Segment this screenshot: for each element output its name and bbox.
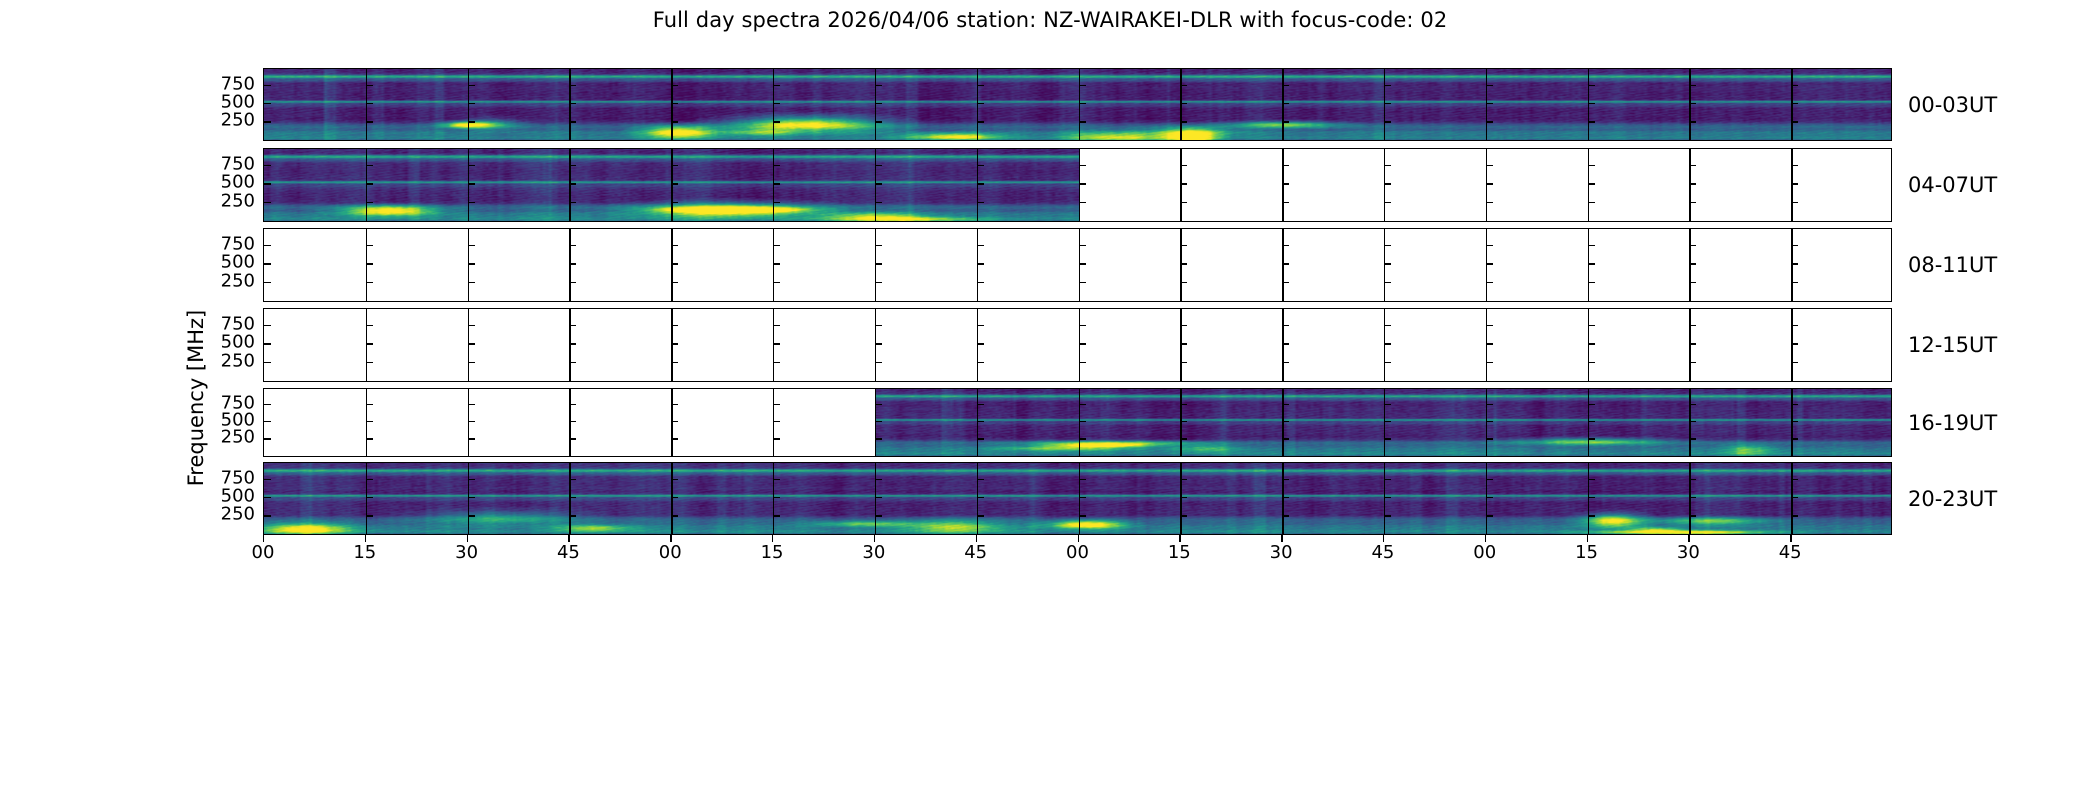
panel-divider [1180,69,1181,140]
y-tick-mark [1282,121,1289,122]
row-caption-12-15ut: 12-15UT [1908,333,1997,357]
y-tick-mark [1791,202,1798,203]
panel-divider [977,69,978,140]
y-tick-mark [1689,343,1696,344]
panel-divider [1588,229,1589,301]
y-tick-mark [468,85,475,86]
row-caption-04-07ut: 04-07UT [1908,173,1997,197]
y-tick-mark [1588,479,1595,480]
panel-divider [1282,463,1283,534]
y-tick-mark [1791,85,1798,86]
y-tick-mark [1486,282,1493,283]
y-tick-mark [1079,245,1086,246]
y-tick-mark [671,362,678,363]
y-tick-mark [1689,183,1696,184]
y-tick-mark [1689,245,1696,246]
y-tick-mark [366,282,373,283]
panel-divider [977,463,978,534]
y-tick-mark [1282,497,1289,498]
y-tick-mark [1282,202,1289,203]
spectrogram-row-04-07ut[interactable] [263,148,1892,222]
y-tick-mark [1079,325,1086,326]
y-tick-mark [1588,362,1595,363]
x-tick-mark [976,535,977,542]
panel-divider [773,149,774,221]
y-tick-mark [1079,362,1086,363]
panel-divider [569,463,570,534]
y-tick-mark [875,245,882,246]
y-tick-mark [468,343,475,344]
y-tick-mark [977,404,984,405]
y-tick-mark [1384,202,1391,203]
y-tick-mark [1588,282,1595,283]
y-tick-mark [1486,202,1493,203]
y-tick-mark [366,325,373,326]
y-tick-mark [671,421,678,422]
x-tick-mark [365,535,366,542]
panel-divider [1791,309,1792,381]
x-tick-label: 30 [1677,542,1700,563]
y-tick-mark [1689,404,1696,405]
y-tick-mark [875,282,882,283]
panel-divider [1282,69,1283,140]
y-tick-mark [1384,165,1391,166]
panel-divider [1384,463,1385,534]
y-tick-mark [1588,85,1595,86]
y-tick-mark [1180,245,1187,246]
row-plot-area [264,229,1891,301]
panel-divider [468,389,469,456]
panel-divider [1689,149,1690,221]
y-tick-mark [671,515,678,516]
panel-divider [773,309,774,381]
panel-divider [366,229,367,301]
y-tick-mark [875,325,882,326]
y-tick-mark [1282,438,1289,439]
row-plot-area [264,309,1891,381]
y-tick-mark [366,421,373,422]
panel-divider [977,389,978,456]
panel-divider [1079,69,1080,140]
y-tick-mark [264,515,271,516]
y-tick-mark [1282,263,1289,264]
y-tick-mark [264,404,271,405]
y-tick-mark [875,85,882,86]
y-tick-mark [773,421,780,422]
y-tick-mark [366,438,373,439]
y-tick-mark [875,121,882,122]
row-plot-area [264,389,1891,456]
panel-divider [569,149,570,221]
y-tick-mark [1791,325,1798,326]
y-tick-mark [1486,479,1493,480]
panel-divider [1486,69,1487,140]
y-tick-label-group: 750500250 [203,462,255,535]
spectrogram-row-16-19ut[interactable] [263,388,1892,457]
y-tick-mark [264,263,271,264]
y-tick-mark [671,497,678,498]
x-tick-label: 30 [1270,542,1293,563]
y-tick-mark [1079,103,1086,104]
y-tick-mark [977,282,984,283]
y-tick-mark [977,497,984,498]
y-tick-mark [569,515,576,516]
y-tick-mark [875,404,882,405]
y-tick-mark [1486,103,1493,104]
y-tick-mark [569,497,576,498]
y-tick-mark [671,121,678,122]
y-tick-mark [977,85,984,86]
x-tick-mark [263,535,264,542]
y-tick-mark [468,263,475,264]
y-tick-mark [773,438,780,439]
y-tick-mark [1588,245,1595,246]
y-tick-mark [671,343,678,344]
y-tick-mark [1384,183,1391,184]
y-tick-mark [1180,183,1187,184]
y-tick-mark [468,515,475,516]
y-tick-mark [366,515,373,516]
y-tick-mark [875,438,882,439]
panel-divider [366,149,367,221]
y-tick-mark [1689,103,1696,104]
x-tick-label: 00 [252,542,275,563]
y-tick-mark [977,438,984,439]
panel-divider [671,69,672,140]
y-tick-mark [569,282,576,283]
y-tick-mark [1689,421,1696,422]
y-tick-mark [773,202,780,203]
y-tick-mark [1588,165,1595,166]
y-tick-mark [366,343,373,344]
x-tick-label: 00 [1473,542,1496,563]
y-tick-mark [264,479,271,480]
y-tick-mark [1180,404,1187,405]
spectrogram-row-00-03ut[interactable] [263,68,1892,141]
y-tick-mark [569,362,576,363]
y-tick-mark [1791,497,1798,498]
y-tick-mark [1282,404,1289,405]
y-tick-mark [1282,325,1289,326]
y-tick-mark [1791,282,1798,283]
y-tick-label-group: 750500250 [203,388,255,457]
y-tick-mark [773,404,780,405]
panel-divider [1384,309,1385,381]
x-tick-label: 30 [862,542,885,563]
y-tick-mark [1384,282,1391,283]
y-tick-mark [1079,85,1086,86]
y-tick-mark [1588,515,1595,516]
y-tick-mark [773,245,780,246]
y-tick-mark [1180,103,1187,104]
y-tick-mark [1079,121,1086,122]
panel-divider [1689,463,1690,534]
y-tick-mark [977,245,984,246]
y-tick-mark [1282,282,1289,283]
x-tick-mark [1790,535,1791,542]
y-tick-mark [264,421,271,422]
y-tick-mark [1588,183,1595,184]
panel-divider [1180,309,1181,381]
panel-divider [1079,389,1080,456]
y-tick-mark [1791,421,1798,422]
y-tick-mark [1486,515,1493,516]
y-tick-mark [366,121,373,122]
panel-divider [366,463,367,534]
y-tick-mark [1791,362,1798,363]
y-tick-mark [1486,165,1493,166]
spectrogram-data-block [264,69,1891,140]
y-tick-mark [773,103,780,104]
y-tick-mark [1180,282,1187,283]
x-tick-label: 15 [1575,542,1598,563]
y-tick-mark [468,183,475,184]
panel-divider [468,149,469,221]
y-tick-mark [366,404,373,405]
y-tick-mark [1791,183,1798,184]
panel-divider [468,229,469,301]
y-tick-mark [977,343,984,344]
y-tick-mark [264,343,271,344]
y-tick-mark [1791,515,1798,516]
y-tick-mark [1282,103,1289,104]
y-tick-mark [1588,263,1595,264]
panel-divider [1180,463,1181,534]
y-tick-mark [671,103,678,104]
y-tick-mark [773,282,780,283]
y-tick-mark [1588,202,1595,203]
y-tick-mark [468,121,475,122]
y-tick-mark [1079,479,1086,480]
y-tick-mark [366,479,373,480]
y-tick-mark [264,282,271,283]
y-tick-mark [569,479,576,480]
spectrogram-row-20-23ut[interactable] [263,462,1892,535]
y-tick-mark [1079,497,1086,498]
x-tick-label: 45 [1371,542,1394,563]
row-caption-16-19ut: 16-19UT [1908,411,1997,435]
y-tick-mark [1180,85,1187,86]
panel-divider [1486,389,1487,456]
panel-divider [569,309,570,381]
x-tick-mark [1078,535,1079,542]
spectrogram-row-08-11ut[interactable] [263,228,1892,302]
panel-divider [671,463,672,534]
spectrogram-row-12-15ut[interactable] [263,308,1892,382]
y-tick-mark [468,362,475,363]
panel-divider [1689,309,1690,381]
y-tick-mark [1486,245,1493,246]
y-tick-mark [773,121,780,122]
x-tick-label: 00 [1066,542,1089,563]
y-tick-mark [1180,165,1187,166]
y-tick-mark [977,479,984,480]
panel-divider [1791,149,1792,221]
y-tick-mark [1486,121,1493,122]
y-tick-mark [1689,438,1696,439]
y-tick-mark [1384,325,1391,326]
spectrogram-data-block [875,389,1891,456]
y-tick-mark [1791,438,1798,439]
panel-divider [366,389,367,456]
y-tick-mark [1384,421,1391,422]
y-tick-mark [1079,165,1086,166]
y-tick-mark [977,421,984,422]
y-tick-mark [569,183,576,184]
y-tick-mark [1689,282,1696,283]
y-tick-mark [1791,121,1798,122]
y-tick-mark [875,183,882,184]
y-tick-mark [264,438,271,439]
y-tick-mark [875,497,882,498]
y-tick-mark [875,103,882,104]
y-tick-mark [1079,202,1086,203]
y-tick-mark [468,438,475,439]
y-tick-mark [1689,325,1696,326]
y-tick-label: 250 [221,504,255,525]
y-tick-mark [1384,497,1391,498]
x-tick-mark [1587,535,1588,542]
y-tick-mark [773,362,780,363]
row-caption-08-11ut: 08-11UT [1908,253,1997,277]
spectrogram-canvas [264,463,1891,534]
y-tick-mark [468,404,475,405]
panel-divider [1486,463,1487,534]
panel-divider [1282,389,1283,456]
row-plot-area [264,463,1891,534]
y-tick-mark [875,165,882,166]
y-tick-label: 250 [221,110,255,131]
y-tick-mark [569,343,576,344]
y-tick-mark [1791,404,1798,405]
y-tick-mark [1079,183,1086,184]
y-tick-mark [569,325,576,326]
y-tick-mark [671,263,678,264]
y-tick-mark [1079,343,1086,344]
y-tick-label: 250 [221,190,255,211]
panel-divider [875,389,876,456]
panel-divider [671,149,672,221]
x-tick-mark [1688,535,1689,542]
y-tick-mark [1079,404,1086,405]
panel-divider [1486,149,1487,221]
y-tick-mark [1384,263,1391,264]
y-tick-mark [1588,404,1595,405]
panel-divider [1384,149,1385,221]
y-tick-label-group: 750500250 [203,68,255,141]
y-tick-mark [569,438,576,439]
y-tick-mark [569,421,576,422]
y-tick-mark [1384,103,1391,104]
x-tick-label: 15 [1168,542,1191,563]
y-tick-mark [264,121,271,122]
x-tick-mark [874,535,875,542]
y-tick-label: 250 [221,270,255,291]
spectrogram-data-block [264,463,1891,534]
panel-divider [1588,149,1589,221]
y-tick-label-group: 750500250 [203,308,255,382]
panel-divider [569,69,570,140]
panel-divider [875,69,876,140]
spectrogram-figure: Full day spectra 2026/04/06 station: NZ-… [0,0,2100,800]
y-tick-mark [264,325,271,326]
y-tick-mark [569,202,576,203]
y-tick-mark [1384,438,1391,439]
panel-divider [1282,309,1283,381]
y-tick-mark [977,183,984,184]
panel-divider [1079,309,1080,381]
y-tick-mark [977,121,984,122]
y-tick-mark [264,245,271,246]
y-tick-mark [671,438,678,439]
x-tick-mark [1281,535,1282,542]
y-tick-mark [671,325,678,326]
y-tick-mark [264,362,271,363]
row-plot-area [264,69,1891,140]
y-tick-mark [264,497,271,498]
spectrogram-canvas [875,389,1891,456]
x-tick-mark [1383,535,1384,542]
y-tick-mark [773,479,780,480]
panel-divider [366,309,367,381]
page-title: Full day spectra 2026/04/06 station: NZ-… [0,8,2100,32]
y-tick-mark [977,515,984,516]
y-tick-mark [264,85,271,86]
x-tick-mark [568,535,569,542]
y-tick-mark [264,103,271,104]
y-tick-mark [671,404,678,405]
y-tick-mark [1486,263,1493,264]
y-tick-mark [1282,421,1289,422]
x-tick-label: 45 [1779,542,1802,563]
y-tick-mark [977,202,984,203]
y-tick-mark [1486,325,1493,326]
panel-divider [671,229,672,301]
y-tick-mark [1588,497,1595,498]
y-tick-mark [366,362,373,363]
y-tick-mark [569,103,576,104]
panel-divider [1791,69,1792,140]
row-caption-00-03ut: 00-03UT [1908,93,1997,117]
panel-divider [773,463,774,534]
y-tick-mark [1180,479,1187,480]
y-tick-mark [875,263,882,264]
y-tick-mark [977,362,984,363]
x-tick-mark [670,535,671,542]
y-tick-mark [1180,362,1187,363]
y-tick-mark [1180,202,1187,203]
y-tick-mark [1180,515,1187,516]
y-tick-mark [468,497,475,498]
y-tick-mark [1079,282,1086,283]
y-tick-mark [1689,479,1696,480]
y-tick-mark [1486,183,1493,184]
panel-divider [1588,389,1589,456]
panel-divider [875,463,876,534]
y-tick-mark [1791,165,1798,166]
x-tick-label: 45 [557,542,580,563]
panel-divider [1079,463,1080,534]
y-tick-mark [1791,479,1798,480]
y-tick-mark [1180,263,1187,264]
y-tick-mark [468,325,475,326]
y-tick-mark [264,202,271,203]
y-tick-mark [1486,362,1493,363]
panel-divider [1180,389,1181,456]
y-tick-mark [366,497,373,498]
y-tick-mark [1384,85,1391,86]
y-tick-mark [875,479,882,480]
